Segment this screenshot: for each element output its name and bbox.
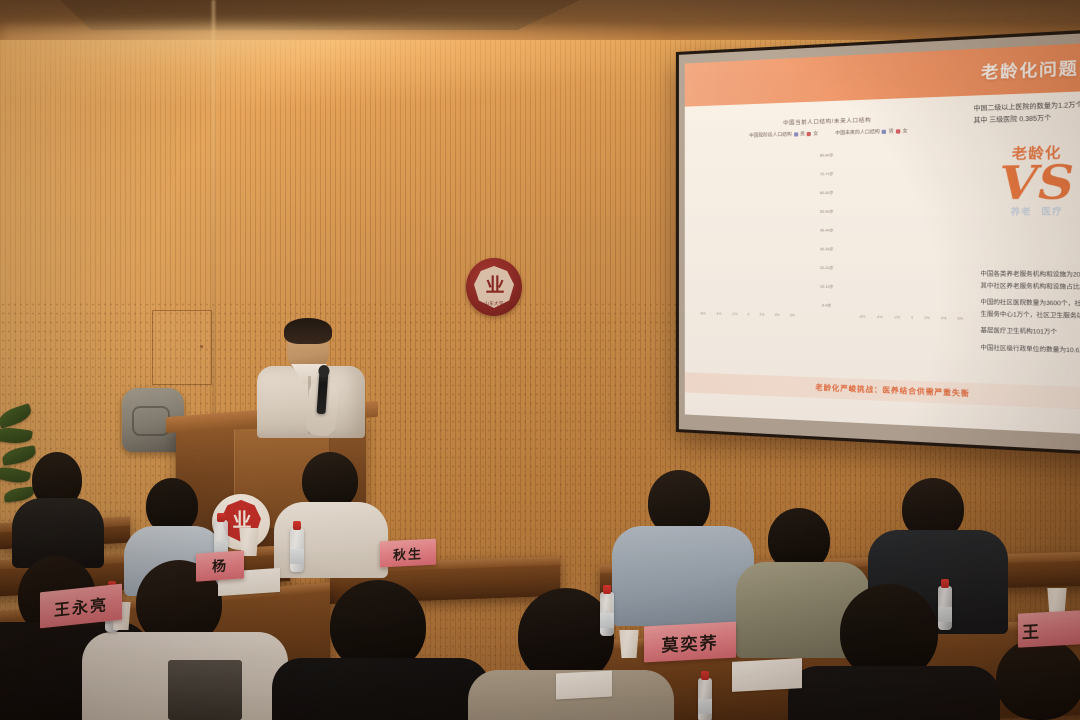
legend-swatch-female (807, 132, 811, 136)
pyramid-row (858, 284, 965, 293)
speaker-hair (284, 318, 332, 344)
pyramid-bar-male (699, 286, 747, 287)
pyramid-row (699, 255, 797, 263)
pyramid-row (699, 228, 797, 236)
age-label: 20-24岁 (805, 265, 850, 273)
pyramid-row (858, 159, 965, 169)
pyramid-bar-male (858, 145, 911, 146)
age-label: 70-74岁 (805, 171, 850, 180)
body-line-6: 中国社区级行政单位的数量为10.6万个 (980, 343, 1080, 359)
pyramid-bar-male (858, 202, 911, 203)
pyramid-row (858, 149, 965, 159)
pyramid-bar-male (858, 288, 911, 289)
projected-slide: 老龄化问题 中国当前人口结构/未来人口结构 中国现阶段人口结构 男 女 (685, 41, 1080, 435)
pyramid-row (858, 227, 965, 235)
age-label: 50-54岁 (805, 208, 850, 216)
pyramid-bar-female (910, 298, 964, 299)
name-card-yang: 杨 (196, 550, 244, 581)
pyramid-bar-male (699, 295, 747, 296)
document-paper-3 (556, 671, 612, 700)
pyramid-bar-female (747, 203, 796, 204)
age-label: 10-14岁 (805, 283, 850, 291)
legend-male-future: 男 (889, 128, 894, 135)
age-label (805, 142, 850, 151)
pyramid-bar-male (858, 297, 911, 298)
pyramid-bar-female (747, 287, 796, 288)
pyramid-panels: -6%-4%-2%02%4%6% 0-4岁10-14岁20-24岁30-34岁4… (699, 139, 965, 320)
legend-label-current: 中国现阶段人口结构 (749, 131, 792, 138)
chart-legend: 中国现阶段人口结构 男 女 中国未来的人口结构 男 女 (699, 126, 965, 140)
pyramid-row (858, 275, 965, 284)
axis-tick-label: 2% (924, 315, 929, 319)
age-label (805, 218, 850, 226)
legend-swatch-male (794, 132, 798, 136)
pyramid-row (699, 237, 797, 245)
pyramid-bar-female (747, 157, 796, 158)
age-label (805, 180, 850, 189)
pyramid-row (699, 300, 797, 309)
pyramid-row (858, 188, 965, 197)
pyramid-bar-female (910, 172, 964, 173)
pyramid-row (699, 273, 797, 282)
pyramid-row (699, 172, 797, 181)
pyramid-rows-current (699, 144, 797, 310)
pyramid-row (858, 303, 965, 313)
pyramid-row (858, 265, 965, 274)
speaker-presenter (255, 318, 367, 438)
name-card-wang: 王 (1018, 610, 1080, 647)
name-card-text: 杨 (212, 555, 228, 576)
person-torso (788, 666, 1000, 720)
person-head (996, 638, 1080, 720)
slide-body-text: 中国各类养老服务机构和设施为20.4万个 其中社区养老服务机构和设施占比超过50… (980, 269, 1080, 358)
pyramid-bar-male (858, 279, 911, 280)
pyramid-row (858, 168, 965, 178)
pyramid-bar-male (699, 158, 747, 159)
cove-light-glow (0, 26, 660, 106)
pyramid-row (699, 264, 797, 272)
population-pyramid-chart: 中国当前人口结构/未来人口结构 中国现阶段人口结构 男 女 中国未来的人口结构 (699, 113, 965, 320)
slide-body: 中国当前人口结构/未来人口结构 中国现阶段人口结构 男 女 中国未来的人口结构 (685, 90, 1080, 436)
pyramid-bar-female (747, 166, 796, 167)
axis-tick-label: 0 (747, 312, 749, 316)
legend-group-current: 中国现阶段人口结构 男 女 (749, 131, 818, 139)
pyramid-row (699, 190, 797, 199)
pyramid-bar-male (699, 186, 747, 187)
axis-tick-label: 4% (775, 312, 780, 316)
pyramid-bar-male (858, 183, 911, 184)
pyramid-row (699, 246, 797, 254)
legend-label-future: 中国未来的人口结构 (835, 129, 880, 137)
pyramid-bar-female (747, 176, 796, 177)
audience-person-far-right (972, 638, 1080, 720)
paper-cup-3 (618, 630, 640, 658)
pyramid-bar-male (858, 193, 911, 194)
conference-room-photo: 业 山东大学 老龄化问题 中国当前人口结构/未来人口结构 中国现阶段人口结构 男 (0, 0, 1080, 720)
wall-access-panel (152, 310, 212, 385)
vs-graphic: 老龄化 VS 养老 医疗 (980, 140, 1080, 218)
slide-footer-text: 老龄化严峻挑战：医养结合供需严重失衡 (815, 382, 969, 399)
pyramid-bar-male (699, 304, 747, 305)
pyramid-row (858, 294, 965, 304)
age-label (805, 161, 850, 170)
pyramid-bar-female (910, 163, 964, 164)
body-line-1: 中国各类养老服务机构和设施为20.4万个 (980, 269, 1080, 282)
pyramid-bar-female (910, 143, 964, 144)
age-label (805, 293, 850, 301)
age-label (805, 274, 850, 282)
chair-back-left (168, 660, 242, 720)
water-bottle-3 (290, 528, 304, 572)
pyramid-bar-female (747, 148, 796, 149)
audience-person-back-left (16, 452, 100, 562)
wall-corner-edge (212, 0, 215, 470)
pyramid-bar-male (858, 164, 911, 165)
pyramid-row (858, 198, 965, 207)
axis-tick-label: 6% (790, 313, 795, 317)
axis-tick-label: -4% (876, 314, 883, 318)
axis-tick-label: 6% (958, 316, 964, 320)
pyramid-bar-female (910, 192, 964, 193)
pyramid-bar-female (747, 194, 796, 195)
pyramid-bar-female (910, 279, 964, 280)
audience-person-front-center (286, 580, 476, 720)
pyramid-panel-current: -6%-4%-2%02%4%6% (699, 144, 797, 317)
pyramid-row (858, 256, 965, 265)
slide-title: 老龄化问题 (981, 56, 1079, 83)
pyramid-row (699, 153, 797, 163)
pyramid-bar-female (910, 308, 964, 309)
pyramid-bar-female (910, 289, 964, 290)
axis-tick-label: -6% (700, 311, 706, 315)
age-label: 80-84岁 (805, 152, 850, 161)
pyramid-bar-male (699, 167, 747, 168)
name-card-text: 莫奕荞 (662, 628, 719, 656)
pyramid-bar-female (747, 305, 796, 306)
axis-tick-label: -6% (859, 314, 866, 318)
vs-sub-left: 养老 (1011, 206, 1032, 218)
pyramid-bar-male (858, 173, 911, 174)
age-label: 40-44岁 (805, 227, 850, 235)
pyramid-row (858, 207, 965, 216)
name-card-qiusheng: 秋生 (380, 539, 436, 568)
pyramid-row (699, 218, 797, 226)
legend-group-future: 中国未来的人口结构 男 女 (835, 128, 907, 136)
age-label: 30-34岁 (805, 246, 850, 254)
legend-female-current: 女 (813, 131, 818, 137)
pyramid-bar-male (699, 176, 747, 177)
pyramid-row (858, 178, 965, 188)
age-label (805, 255, 850, 263)
axis-tick-label: -4% (715, 311, 721, 315)
legend-male-current: 男 (800, 131, 805, 137)
axis-tick-label: 0 (911, 315, 913, 319)
pyramid-row (699, 181, 797, 190)
pyramid-bar-male (699, 149, 747, 150)
body-line-2: 其中社区养老服务机构和设施占比超过50% (980, 281, 1080, 294)
water-bottle-5 (698, 678, 712, 720)
pyramid-bar-male (858, 307, 911, 308)
pyramid-bar-female (910, 202, 964, 203)
pyramid-bar-male (699, 195, 747, 196)
right-header-line-2-text: 其中 三级医院 0.385万个 (974, 116, 1052, 125)
pyramid-bar-female (910, 182, 964, 183)
age-group-labels: 0-4岁10-14岁20-24岁30-34岁40-44岁50-54岁60-64岁… (805, 142, 850, 310)
axis-tick-label: -2% (731, 312, 737, 316)
pyramid-bar-male (699, 204, 747, 205)
pyramid-row (699, 291, 797, 300)
pyramid-row (858, 246, 965, 254)
pyramid-row (699, 200, 797, 209)
legend-swatch-female-future (896, 129, 900, 133)
pyramid-panel-future: -6%-4%-2%02%4%6% (858, 139, 965, 320)
crest-glyph: 业 (485, 270, 502, 297)
document-paper-2 (732, 658, 802, 692)
water-bottle-6 (938, 586, 952, 630)
audience-person-front-right (800, 584, 980, 720)
projection-screen-frame: 老龄化问题 中国当前人口结构/未来人口结构 中国现阶段人口结构 男 女 (676, 27, 1080, 456)
person-torso (272, 658, 490, 720)
pyramid-axis-current: -6%-4%-2%02%4%6% (699, 311, 797, 317)
pyramid-row (699, 209, 797, 217)
crest-subtext: 山东大学 (484, 301, 503, 307)
pyramid-row (858, 217, 965, 226)
legend-swatch-male-future (882, 130, 886, 134)
pyramid-row (858, 237, 965, 245)
age-label: 60-64岁 (805, 190, 850, 198)
legend-female-future: 女 (903, 128, 908, 135)
water-bottle-4 (600, 592, 614, 636)
age-label: 0-4岁 (805, 302, 850, 311)
pyramid-bar-female (910, 153, 964, 154)
pyramid-bar-female (747, 185, 796, 186)
pyramid-row (699, 162, 797, 172)
pyramid-bar-male (858, 154, 911, 155)
name-card-text: 王 (1022, 617, 1041, 643)
pyramid-bar-female (747, 296, 796, 297)
university-crest-emblem: 业 山东大学 (466, 258, 522, 316)
pyramid-rows-future (858, 139, 965, 313)
axis-tick-label: 2% (759, 312, 764, 316)
vs-sub-right: 医疗 (1041, 205, 1063, 217)
age-label (805, 199, 850, 207)
axis-tick-label: -2% (894, 315, 901, 319)
pyramid-row (699, 282, 797, 291)
name-card-text: 王永亮 (54, 591, 108, 621)
name-card-text: 秋生 (393, 543, 423, 564)
name-card-mo-yiqiao: 莫奕荞 (644, 622, 736, 663)
pyramid-axis-future: -6%-4%-2%02%4%6% (858, 314, 965, 320)
age-label (805, 237, 850, 245)
vs-mark: VS (980, 161, 1080, 205)
axis-tick-label: 4% (941, 316, 947, 320)
